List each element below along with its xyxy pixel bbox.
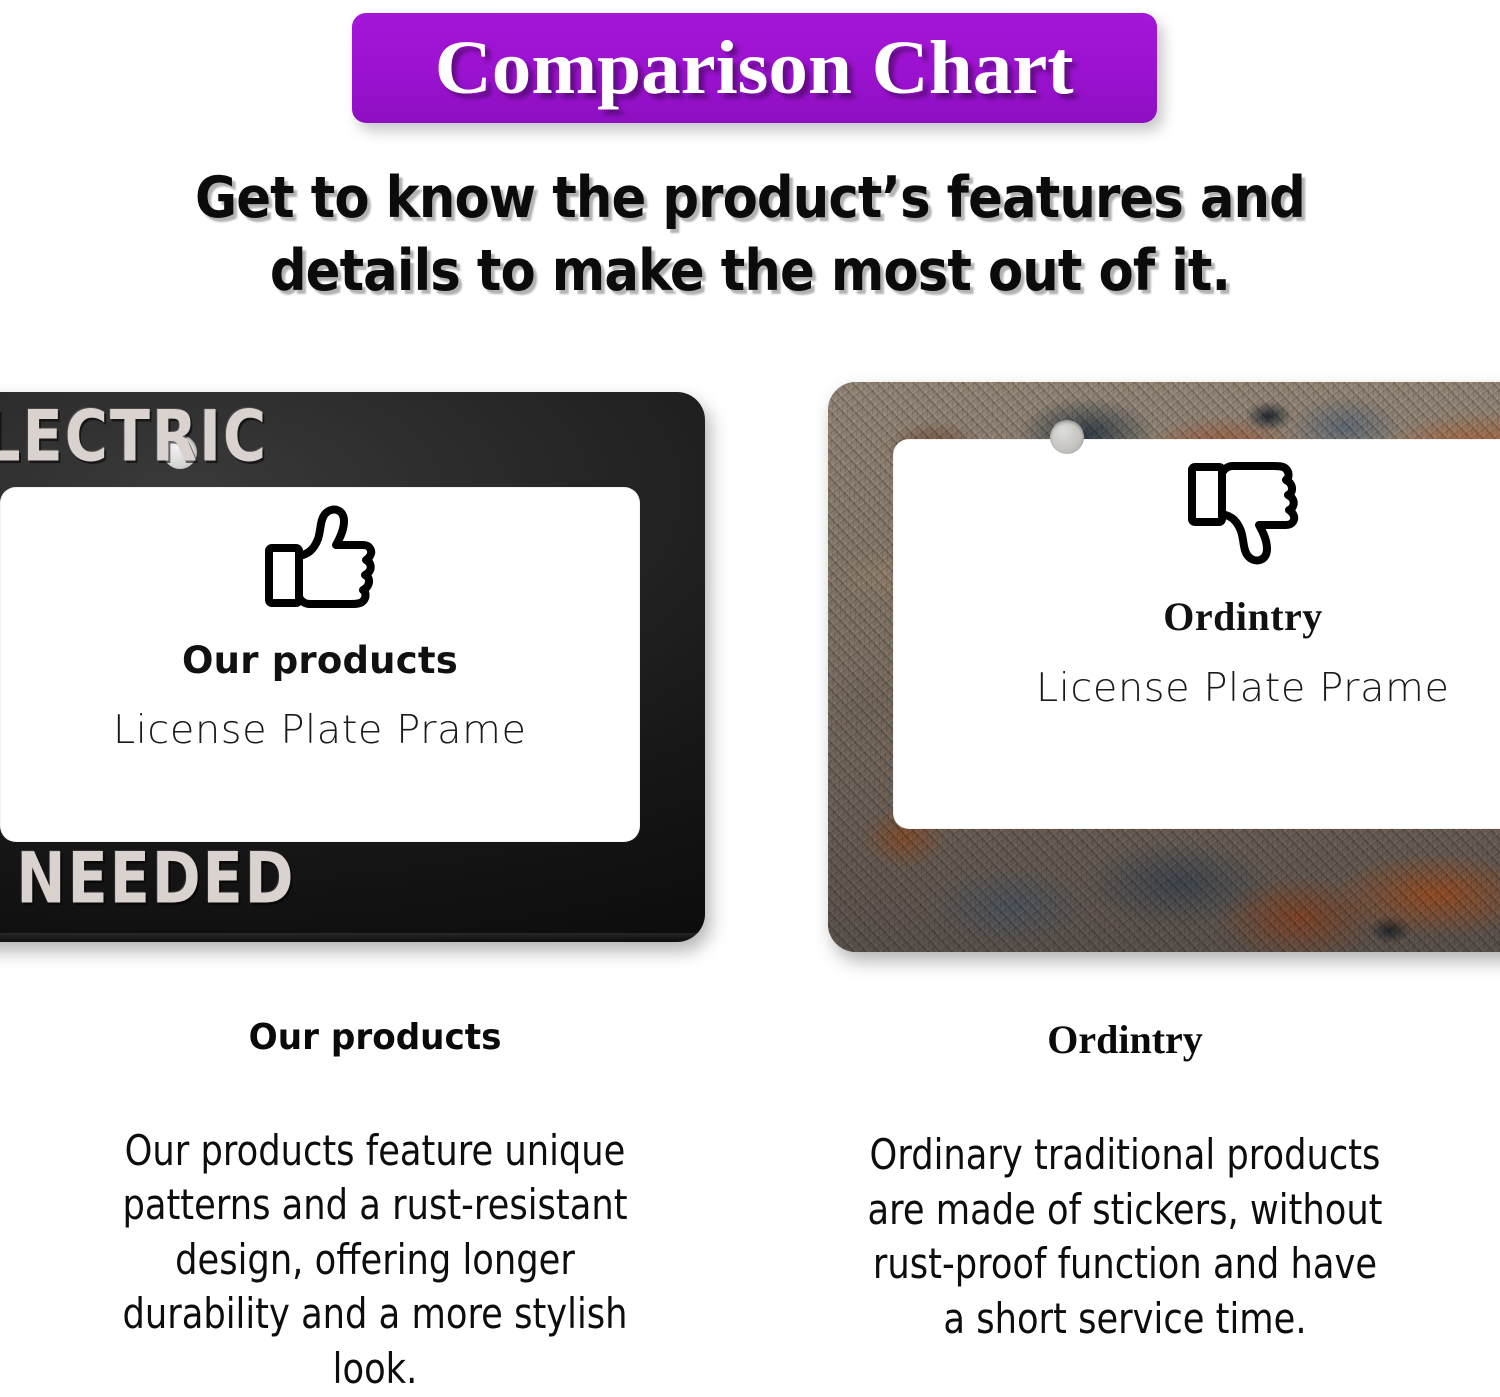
plate-slogan-bottom: GAS NEEDED — [0, 838, 296, 921]
ordinary-product-description: Ordinary traditional products are made o… — [844, 1128, 1407, 1346]
plate-slogan-top: ’S ELECTRIC — [0, 396, 268, 479]
page-subtitle-line-2: details to make the most out of it. — [75, 235, 1425, 308]
ordinary-product-heading-wrap: Ordintry — [790, 1018, 1460, 1062]
ordinary-product-heading: Ordintry — [1047, 1017, 1203, 1062]
our-product-heading: Our products — [249, 1018, 502, 1058]
plate-frame-black: ’S ELECTRIC GAS NEEDED Our products Lice… — [0, 392, 705, 942]
page-title: Comparison Chart — [435, 30, 1074, 106]
plate-frame-rusted: Ordintry License Plate Prame — [828, 382, 1500, 952]
comparison-chart-title-banner: Comparison Chart — [352, 13, 1157, 123]
our-product-plate-frame: ’S ELECTRIC GAS NEEDED Our products Lice… — [0, 392, 705, 942]
our-product-heading-wrap: Our products — [40, 1018, 710, 1058]
page-subtitle-line-1: Get to know the product’s features and — [75, 162, 1425, 235]
page-subtitle: Get to know the product’s features and d… — [75, 162, 1425, 308]
ordinary-product-description-column: Ordintry Ordinary traditional products a… — [750, 1018, 1500, 1364]
our-product-description-column: Our products Our products feature unique… — [0, 1018, 750, 1364]
screw-hole-right — [1050, 420, 1084, 454]
comparison-description-row: Our products Our products feature unique… — [0, 1018, 1500, 1364]
our-product-description: Our products feature unique patterns and… — [94, 1124, 657, 1397]
ordinary-product-plate-frame: Ordintry License Plate Prame — [828, 382, 1500, 952]
